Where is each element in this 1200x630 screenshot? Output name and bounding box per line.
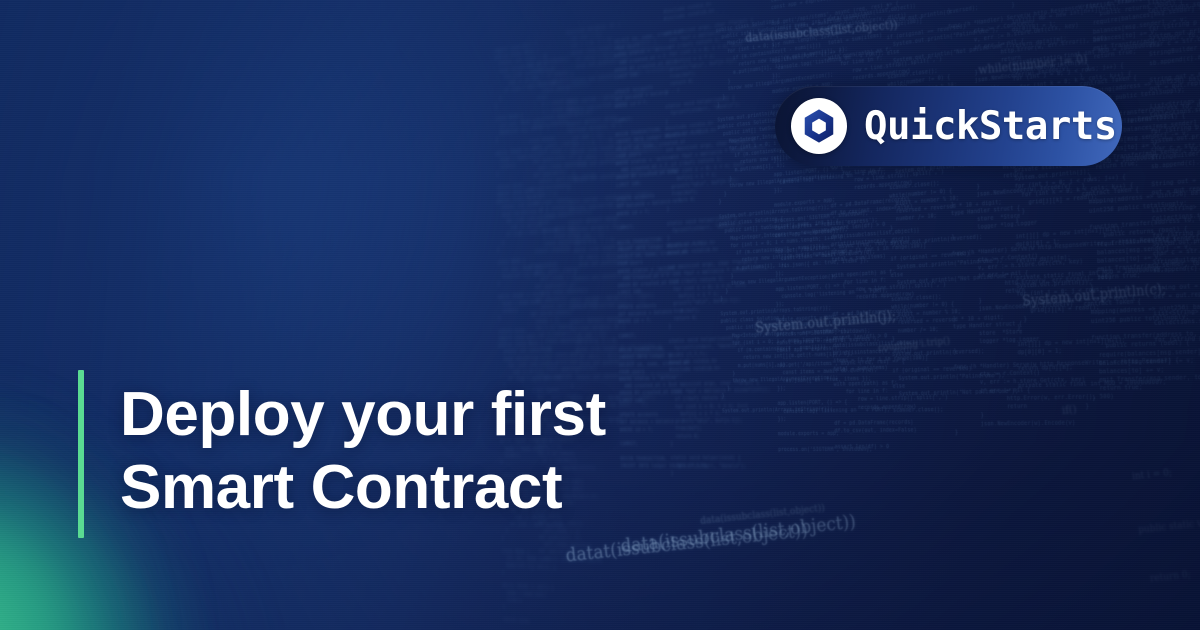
- quickstarts-badge[interactable]: QuickStarts: [775, 86, 1122, 166]
- quickstarts-banner: import java.util.*; public class Main { …: [0, 0, 1200, 630]
- title-accent-bar: [78, 370, 84, 538]
- chainlink-hexagon-icon: [791, 98, 847, 154]
- page-title-line-1: Deploy your first: [120, 378, 760, 451]
- page-title: Deploy your first Smart Contract: [120, 378, 760, 524]
- page-title-line-2: Smart Contract: [120, 451, 760, 524]
- quickstarts-badge-label: QuickStarts: [864, 107, 1117, 146]
